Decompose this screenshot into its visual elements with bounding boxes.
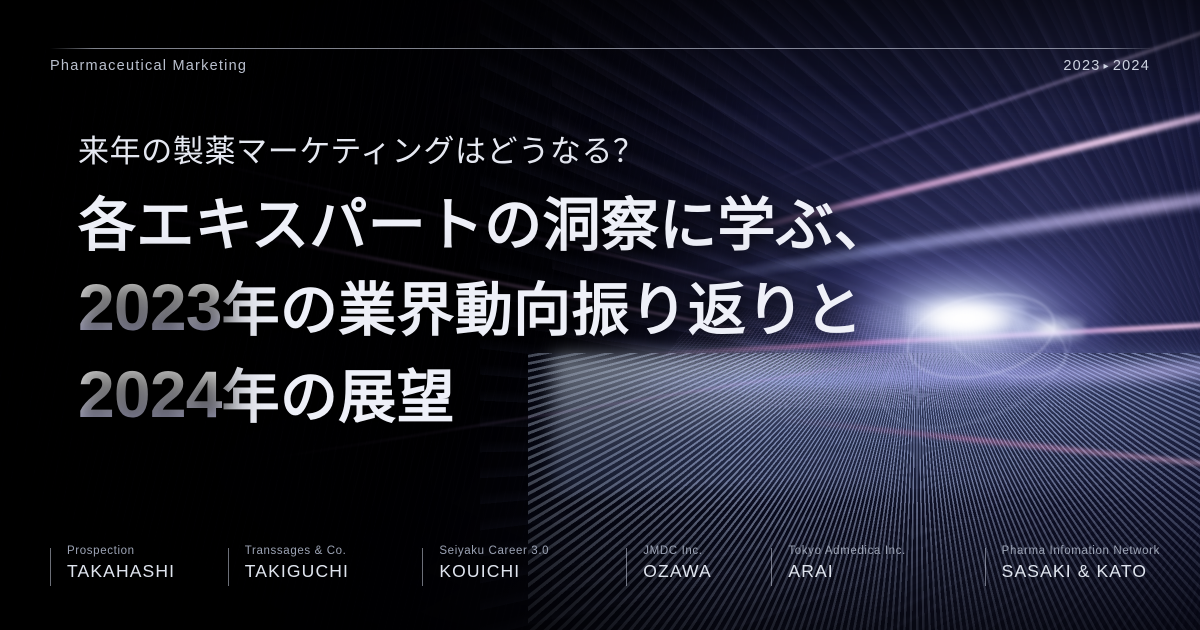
slide-content: Pharmaceutical Marketing 2023▸2024 来年の製薬…: [0, 0, 1200, 630]
credit-item: Tokyo Admedica Inc. ARAI: [771, 544, 966, 586]
credit-item: Transsages & Co. TAKIGUCHI: [228, 544, 405, 586]
credit-person: OZAWA: [643, 561, 753, 581]
credit-person: ARAI: [788, 561, 966, 581]
headline-line-1-text: 各エキスパートの洞察に学ぶ、: [78, 193, 892, 258]
header-divider-rule: [50, 48, 1150, 49]
year-range: 2023▸2024: [1063, 58, 1150, 74]
credit-organization: Seiyaku Career 3.0: [439, 544, 608, 558]
credit-organization: Tokyo Admedica Inc.: [788, 544, 966, 558]
headline-line-3: 2024年の展望: [78, 351, 892, 437]
credit-person: TAKAHASHI: [67, 561, 210, 581]
credit-organization: Prospection: [67, 544, 210, 558]
credit-organization: Transsages & Co.: [245, 544, 405, 558]
credit-person: SASAKI & KATO: [1002, 561, 1160, 581]
presentation-slide: Pharmaceutical Marketing 2023▸2024 来年の製薬…: [0, 0, 1200, 630]
headline-line-2: 2023年の業界動向振り返りと: [78, 264, 892, 350]
year-from: 2023: [1063, 58, 1100, 74]
headline-line-1: 各エキスパートの洞察に学ぶ、: [78, 188, 892, 264]
headline-year-2024: 2024: [78, 357, 222, 431]
credit-item: JMDC Inc. OZAWA: [626, 544, 753, 586]
headline-block: 来年の製薬マーケティングはどうなる？ 各エキスパートの洞察に学ぶ、 2023年の…: [78, 132, 892, 437]
credit-item: Prospection TAKAHASHI: [50, 544, 210, 586]
headline-line-2-text: 年の業界動向振り返りと: [222, 278, 863, 343]
category-kicker: Pharmaceutical Marketing: [50, 58, 247, 74]
speaker-credits-row: Prospection TAKAHASHI Transsages & Co. T…: [50, 544, 1160, 586]
headline-line-3-text: 年の展望: [222, 365, 455, 430]
credit-organization: Pharma Infomation Network: [1002, 544, 1160, 558]
credit-item: Seiyaku Career 3.0 KOUICHI: [422, 544, 608, 586]
credit-person: TAKIGUCHI: [245, 561, 405, 581]
credit-person: KOUICHI: [439, 561, 608, 581]
credit-organization: JMDC Inc.: [643, 544, 753, 558]
arrow-right-icon: ▸: [1104, 61, 1110, 72]
credit-item: Pharma Infomation Network SASAKI & KATO: [985, 544, 1160, 586]
headline-year-2023: 2023: [78, 270, 222, 344]
headline-subtitle: 来年の製薬マーケティングはどうなる？: [78, 132, 892, 172]
year-to: 2024: [1113, 58, 1150, 74]
